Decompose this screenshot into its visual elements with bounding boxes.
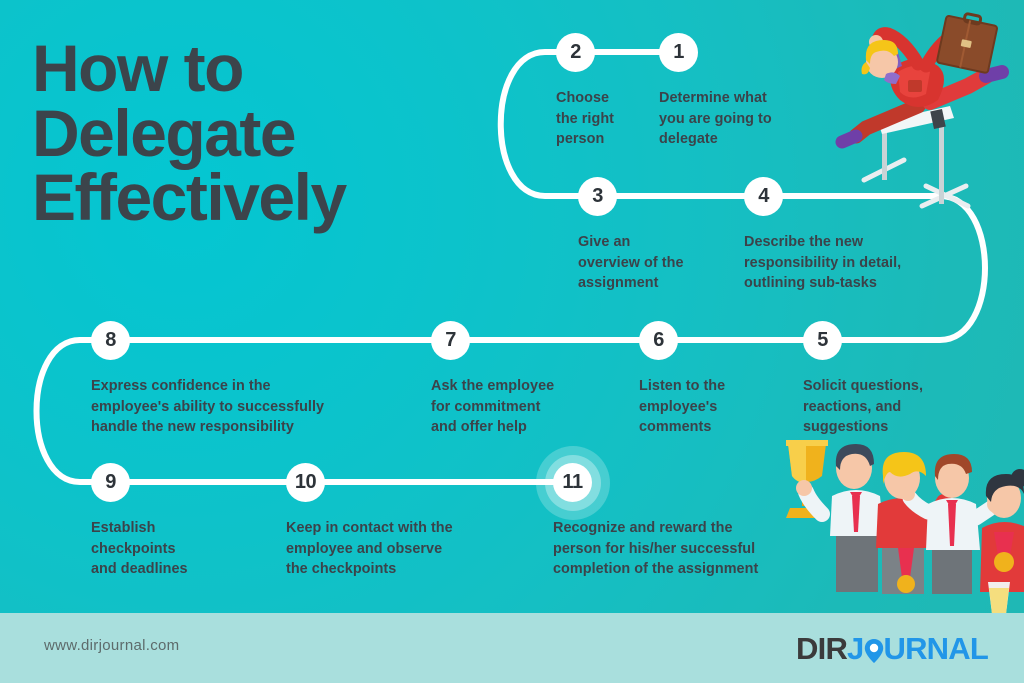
step-text-3: Give an overview of the assignment xyxy=(578,232,728,294)
champagne-glass xyxy=(988,582,1010,614)
step-text-2: Choose the right person xyxy=(556,88,656,150)
page-title: How to Delegate Effectively xyxy=(32,36,532,230)
step-text-7: Ask the employee for commitment and offe… xyxy=(431,376,611,438)
step-number-7[interactable]: 7 xyxy=(431,321,470,360)
infographic-canvas: How to Delegate Effectively 1 Determine … xyxy=(0,0,1024,683)
person-4 xyxy=(980,469,1024,592)
step-text-11: Recognize and reward the person for his/… xyxy=(553,518,818,580)
hurdle-runner-illustration xyxy=(826,10,1024,210)
step-number-3[interactable]: 3 xyxy=(578,177,617,216)
step-text-1: Determine what you are going to delegate xyxy=(659,88,829,150)
step-number-10[interactable]: 10 xyxy=(286,463,325,502)
step-text-10: Keep in contact with the employee and ob… xyxy=(286,518,516,580)
logo-text-dir: DIR xyxy=(796,631,847,667)
step-number-5[interactable]: 5 xyxy=(803,321,842,360)
step-number-6[interactable]: 6 xyxy=(639,321,678,360)
step-text-9: Establish checkpoints and deadlines xyxy=(91,518,231,580)
footer-bar: www.dirjournal.com DIRJ URNAL xyxy=(0,613,1024,683)
team-celebration-illustration xyxy=(782,432,1024,617)
step-text-5: Solicit questions, reactions, and sugges… xyxy=(803,376,953,438)
logo-text-j: J xyxy=(847,631,863,667)
step-number-4[interactable]: 4 xyxy=(744,177,783,216)
dirjournal-logo[interactable]: DIRJ URNAL xyxy=(796,631,988,667)
step-text-6: Listen to the employee's comments xyxy=(639,376,779,438)
step-number-1[interactable]: 1 xyxy=(659,33,698,72)
step-text-4: Describe the new responsibility in detai… xyxy=(744,232,934,294)
step-number-2[interactable]: 2 xyxy=(556,33,595,72)
logo-text-urnal: URNAL xyxy=(884,631,989,667)
step-number-9[interactable]: 9 xyxy=(91,463,130,502)
step-number-8[interactable]: 8 xyxy=(91,321,130,360)
step-text-8: Express confidence in the employee's abi… xyxy=(91,376,391,438)
location-pin-icon xyxy=(864,636,884,662)
step-number-11[interactable]: 11 xyxy=(553,463,592,502)
website-url[interactable]: www.dirjournal.com xyxy=(44,637,179,654)
